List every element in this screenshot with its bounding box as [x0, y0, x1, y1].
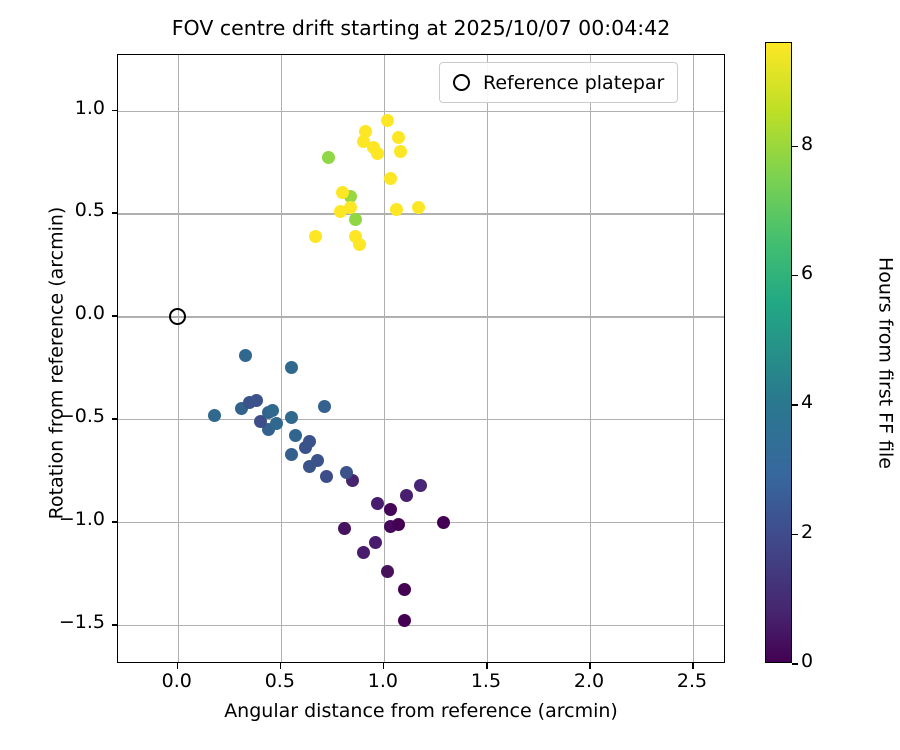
x-tick-label: 0.0 [137, 670, 217, 692]
colorbar-label: Hours from first FF file [875, 53, 897, 674]
y-tick [112, 212, 118, 214]
plot-area [117, 54, 725, 663]
x-tick-label: 1.0 [343, 670, 423, 692]
x-axis-label: Angular distance from reference (arcmin) [117, 700, 725, 722]
colorbar-tick-label: 2 [801, 521, 813, 543]
y-axis-label: Rotation from reference (arcmin) [46, 59, 68, 668]
page-title: FOV centre drift starting at 2025/10/07 … [117, 16, 725, 40]
x-tick [383, 663, 385, 669]
x-tick [589, 663, 591, 669]
x-tick-label: 1.5 [446, 670, 526, 692]
x-tick-label: 0.5 [240, 670, 320, 692]
reference-marker-layer [118, 55, 724, 662]
x-tick [486, 663, 488, 669]
x-tick [177, 663, 179, 669]
x-tick [280, 663, 282, 669]
y-tick [112, 110, 118, 112]
colorbar-tick [792, 275, 798, 277]
legend-item-label: Reference platepar [483, 72, 664, 94]
colorbar-tick [792, 663, 798, 665]
open-circle-icon [453, 74, 470, 91]
reference-platepar-marker [169, 308, 186, 325]
y-tick [112, 418, 118, 420]
colorbar-tick [792, 146, 798, 148]
colorbar-tick-label: 8 [801, 133, 813, 155]
colorbar [765, 42, 792, 663]
legend: Reference platepar [439, 62, 678, 103]
colorbar-tick-label: 6 [801, 262, 813, 284]
colorbar-tick [792, 534, 798, 536]
colorbar-tick-label: 0 [801, 650, 813, 672]
x-tick [692, 663, 694, 669]
y-tick [112, 315, 118, 317]
colorbar-tick-label: 4 [801, 391, 813, 413]
x-tick-label: 2.0 [549, 670, 629, 692]
y-tick [112, 521, 118, 523]
chart-figure: FOV centre drift starting at 2025/10/07 … [0, 0, 900, 750]
x-tick-label: 2.5 [652, 670, 732, 692]
colorbar-tick [792, 404, 798, 406]
y-tick [112, 624, 118, 626]
